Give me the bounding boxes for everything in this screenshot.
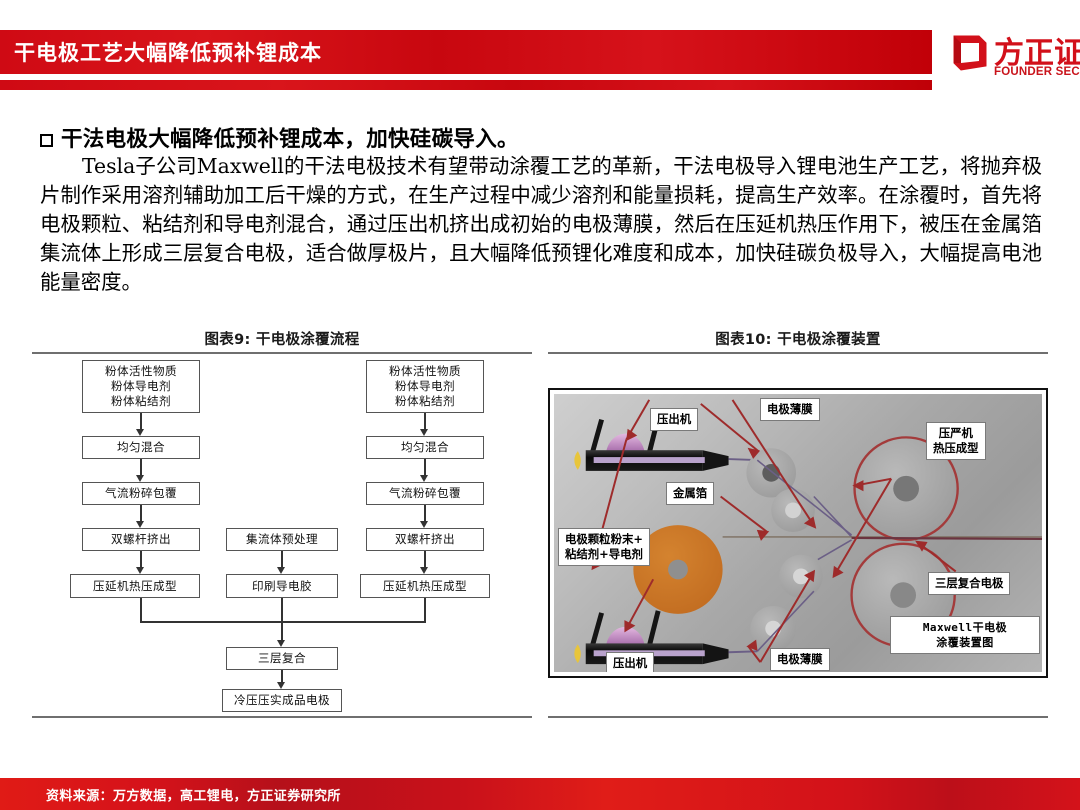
flow-box-left-2: 气流粉碎包覆	[82, 482, 200, 505]
flow-merge-drop-left	[140, 598, 142, 622]
flow-merge-drop-right	[424, 598, 426, 622]
bullet-heading: 干法电极大幅降低预补锂成本，加快硅碳导入。	[40, 122, 1040, 153]
source-text: 资料来源：万方数据，高工锂电，方正证券研究所	[46, 785, 341, 804]
flow-box-left-0: 粉体活性物质 粉体导电剂 粉体粘结剂	[82, 360, 200, 413]
flow-arrow	[420, 475, 428, 482]
flow-box-left-3: 双螺杆挤出	[82, 528, 200, 551]
figure-10-top-rule	[548, 352, 1048, 354]
flow-box-right-3: 双螺杆挤出	[366, 528, 484, 551]
label-extruder-top: 压出机	[650, 408, 698, 431]
flow-arrow	[136, 567, 144, 574]
flow-box-middle-1: 印刷导电胶	[226, 574, 338, 598]
flow-arrow	[136, 475, 144, 482]
flow-box-merge-0: 三层复合	[226, 647, 338, 670]
flow-box-right-4: 压延机热压成型	[360, 574, 490, 598]
body-paragraph: Tesla子公司Maxwell的干法电极技术有望带动涂覆工艺的革新，干法电极导入…	[40, 152, 1042, 297]
header-thin-bar	[0, 80, 932, 90]
figure-9-caption: 图表9: 干电极涂覆流程	[32, 328, 532, 352]
logo-english-text: FOUNDER SECURITIES	[994, 66, 1080, 78]
figure-10-bottom-rule	[548, 716, 1048, 718]
flow-arrow	[136, 429, 144, 436]
flow-box-merge-1: 冷压压实成品电极	[222, 689, 342, 712]
flow-arrow	[420, 429, 428, 436]
company-logo: 方正证券 FOUNDER SECURITIES	[948, 28, 1072, 88]
maxwell-apparatus-diagram: 压出机 电极薄膜 压严机 热压成型 金属箔 电极颗粒粉末+ 粘结剂+导电剂 压出…	[548, 388, 1048, 678]
flow-arrow	[277, 640, 285, 647]
page-title: 干电极工艺大幅降低预补锂成本	[14, 37, 322, 67]
flow-arrow	[277, 682, 285, 689]
bullet-heading-text: 干法电极大幅降低预补锂成本，加快硅碳导入。	[61, 122, 519, 153]
flow-box-right-2: 气流粉碎包覆	[366, 482, 484, 505]
figure-9-top-rule	[32, 352, 532, 354]
figure-9-header: 图表9: 干电极涂覆流程	[32, 328, 532, 354]
flow-arrow	[277, 567, 285, 574]
flow-box-left-1: 均匀混合	[82, 436, 200, 459]
header-title-wrap: 干电极工艺大幅降低预补锂成本	[14, 30, 322, 74]
bullet-square-icon	[40, 134, 53, 147]
flow-arrow	[420, 521, 428, 528]
founder-logo-mark-icon	[948, 32, 988, 74]
flow-box-left-4: 压延机热压成型	[70, 574, 200, 598]
label-extruder-bottom: 压出机	[606, 652, 654, 672]
figure-10-header: 图表10: 干电极涂覆装置	[548, 328, 1048, 354]
label-press-machine: 压严机 热压成型	[926, 422, 986, 460]
label-powder-mix: 电极颗粒粉末+ 粘结剂+导电剂	[558, 528, 650, 566]
flow-arrow	[420, 567, 428, 574]
flow-merge-center-drop	[281, 598, 283, 642]
header-red-bar: 干电极工艺大幅降低预补锂成本	[0, 30, 932, 74]
label-three-layer-electrode: 三层复合电极	[928, 572, 1010, 595]
flow-box-right-0: 粉体活性物质 粉体导电剂 粉体粘结剂	[366, 360, 484, 413]
slide-root: 干电极工艺大幅降低预补锂成本 方正证券 FOUNDER SECURITIES 干…	[0, 0, 1080, 810]
slide-footer: 资料来源：万方数据，高工锂电，方正证券研究所	[0, 778, 1080, 810]
flow-arrow	[136, 521, 144, 528]
flow-box-middle-0: 集流体预处理	[226, 528, 338, 551]
figure-9-bottom-rule	[32, 716, 532, 718]
figure-10-caption: 图表10: 干电极涂覆装置	[548, 328, 1048, 352]
label-electrode-film-bottom: 电极薄膜	[770, 648, 830, 671]
label-metal-foil: 金属箔	[666, 482, 714, 505]
apparatus-canvas: 压出机 电极薄膜 压严机 热压成型 金属箔 电极颗粒粉末+ 粘结剂+导电剂 压出…	[554, 394, 1042, 672]
label-apparatus-caption: Maxwell干电极 涂覆装置图	[890, 616, 1040, 654]
dry-electrode-flowchart: 粉体活性物质 粉体导电剂 粉体粘结剂 均匀混合 气流粉碎包覆 双螺杆挤出 压延机…	[32, 356, 532, 712]
flow-box-right-1: 均匀混合	[366, 436, 484, 459]
label-electrode-film-top: 电极薄膜	[760, 398, 820, 421]
flow-merge-bus	[140, 621, 426, 623]
guide-rollers-graphic	[746, 448, 851, 651]
slide-header: 干电极工艺大幅降低预补锂成本 方正证券 FOUNDER SECURITIES	[0, 0, 1080, 100]
extruder-bottom-graphic	[574, 611, 757, 664]
